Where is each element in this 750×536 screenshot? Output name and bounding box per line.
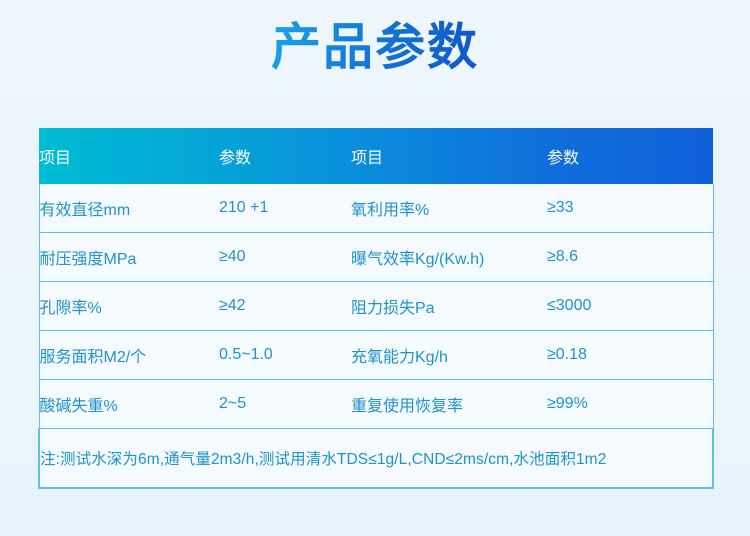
- cell-value-left: 2~5: [219, 380, 351, 429]
- cell-value-left: ≥42: [219, 282, 351, 331]
- cell-item-right: 充氧能力Kg/h: [351, 331, 547, 380]
- table-note-row: 注:测试水深为6m,通气量2m3/h,测试用清水TDS≤1g/L,CND≤2ms…: [39, 429, 713, 489]
- cell-item-left: 耐压强度MPa: [39, 233, 219, 282]
- cell-value-right: ≥99%: [547, 380, 713, 429]
- cell-value-left: 0.5~1.0: [219, 331, 351, 380]
- page-title-container: 产品参数: [0, 16, 750, 79]
- table-row: 耐压强度MPa ≥40 曝气效率Kg/(Kw.h) ≥8.6: [39, 233, 713, 282]
- cell-item-left: 服务面积M2/个: [39, 331, 219, 380]
- cell-value-left: 210 +1: [219, 184, 351, 233]
- cell-value-right: ≤3000: [547, 282, 713, 331]
- cell-item-left: 酸碱失重%: [39, 380, 219, 429]
- cell-item-right: 重复使用恢复率: [351, 380, 547, 429]
- product-parameters-page: 产品参数 项目 参数 项目 参数 有效直径mm 210 +1 氧利用率% ≥33: [0, 0, 750, 536]
- table-row: 孔隙率% ≥42 阻力损失Pa ≤3000: [39, 282, 713, 331]
- cell-item-left: 有效直径mm: [39, 184, 219, 233]
- table-body: 有效直径mm 210 +1 氧利用率% ≥33 耐压强度MPa ≥40 曝气效率…: [39, 184, 713, 488]
- cell-value-right: ≥8.6: [547, 233, 713, 282]
- cell-value-left: ≥40: [219, 233, 351, 282]
- cell-value-right: ≥0.18: [547, 331, 713, 380]
- cell-value-right: ≥33: [547, 184, 713, 233]
- cell-item-left: 孔隙率%: [39, 282, 219, 331]
- product-parameters-table: 项目 参数 项目 参数 有效直径mm 210 +1 氧利用率% ≥33 耐压强度…: [38, 128, 714, 489]
- table-row: 有效直径mm 210 +1 氧利用率% ≥33: [39, 184, 713, 233]
- column-header-item-left: 项目: [39, 128, 219, 184]
- cell-item-right: 曝气效率Kg/(Kw.h): [351, 233, 547, 282]
- cell-item-right: 阻力损失Pa: [351, 282, 547, 331]
- column-header-item-right: 项目: [351, 128, 547, 184]
- column-header-param-right: 参数: [547, 128, 713, 184]
- table-row: 酸碱失重% 2~5 重复使用恢复率 ≥99%: [39, 380, 713, 429]
- column-header-param-left: 参数: [219, 128, 351, 184]
- table-note: 注:测试水深为6m,通气量2m3/h,测试用清水TDS≤1g/L,CND≤2ms…: [39, 429, 713, 489]
- table-header: 项目 参数 项目 参数: [39, 128, 713, 184]
- cell-item-right: 氧利用率%: [351, 184, 547, 233]
- page-title: 产品参数: [271, 16, 479, 79]
- table-row: 服务面积M2/个 0.5~1.0 充氧能力Kg/h ≥0.18: [39, 331, 713, 380]
- table-header-row: 项目 参数 项目 参数: [39, 128, 713, 184]
